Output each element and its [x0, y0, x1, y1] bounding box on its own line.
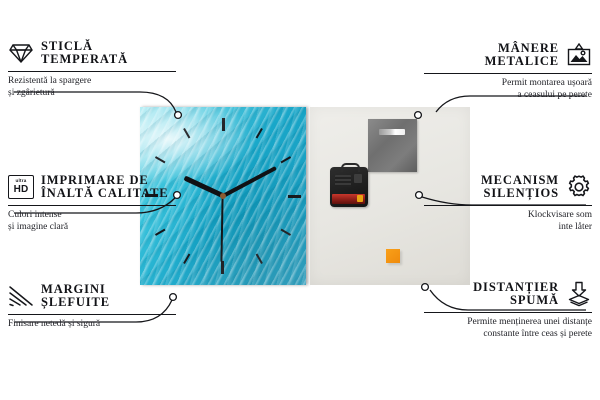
ultra-hd-icon: ultra HD: [8, 174, 34, 200]
feature-divider: [424, 73, 592, 74]
battery: [332, 194, 365, 204]
foam-spacer-pad: [386, 249, 400, 263]
feature-header: MARGINI ȘLEFUITE: [8, 281, 176, 311]
feature-header: STICLĂ TEMPERATĂ: [8, 38, 176, 68]
metal-hanger: [368, 119, 417, 172]
feature-header: MECANISM SILENȚIOS: [424, 172, 592, 202]
feature-subtitle: Finisare netedă și sigură: [8, 319, 176, 331]
feature-subtitle: Permite menținerea unei distanțe constan…: [424, 317, 592, 340]
feature-divider: [424, 205, 592, 206]
feature-title: MECANISM SILENȚIOS: [481, 174, 559, 201]
feature-divider: [8, 314, 176, 315]
feature-divider: [424, 312, 592, 313]
feature-header: MÂNERE METALICE: [424, 40, 592, 70]
feature-header: DISTANȚIER SPUMĂ: [424, 279, 592, 309]
feature-polished-edges: MARGINI ȘLEFUITE Finisare netedă și sigu…: [8, 281, 176, 331]
feature-divider: [8, 205, 176, 206]
mechanism-detail: [335, 175, 351, 187]
feature-metal-handles: MÂNERE METALICE Permit montarea ușoară a…: [424, 40, 592, 101]
feature-title: DISTANȚIER SPUMĂ: [473, 281, 559, 308]
diagonal-lines-icon: [8, 283, 34, 309]
feature-divider: [8, 71, 176, 72]
clock-center-hub: [220, 193, 226, 199]
picture-frame-hanging-icon: [566, 42, 592, 68]
feature-tempered-glass: STICLĂ TEMPERATĂ Rezistentă la spargere …: [8, 38, 176, 99]
product-photo: [140, 107, 470, 285]
gear-icon: [566, 174, 592, 200]
diamond-icon: [8, 40, 34, 66]
clock-tick: [222, 118, 224, 196]
feature-subtitle: Culori intense și imagine clară: [8, 210, 176, 233]
feature-subtitle: Permit montarea ușoară a ceasului pe per…: [424, 78, 592, 101]
clock-tick: [223, 195, 301, 197]
arrow-down-layers-icon: [566, 281, 592, 307]
feature-title: MÂNERE METALICE: [485, 42, 559, 69]
feature-subtitle: Klockvisare som inte låter: [424, 210, 592, 233]
feature-title: STICLĂ TEMPERATĂ: [41, 40, 128, 67]
feature-title: IMPRIMARE DE ÎNALTĂ CALITATE: [41, 174, 169, 201]
feature-high-quality-print: ultra HD IMPRIMARE DE ÎNALTĂ CALITATE Cu…: [8, 172, 176, 233]
feature-title: MARGINI ȘLEFUITE: [41, 283, 110, 310]
mechanism-hook: [341, 163, 360, 172]
infographic-canvas: STICLĂ TEMPERATĂ Rezistentă la spargere …: [0, 0, 600, 400]
feature-foam-spacer: DISTANȚIER SPUMĂ Permite menținerea unei…: [424, 279, 592, 340]
feature-header: ultra HD IMPRIMARE DE ÎNALTĂ CALITATE: [8, 172, 176, 202]
clock-mechanism: [330, 167, 368, 207]
mechanism-detail: [354, 174, 362, 183]
feature-subtitle: Rezistentă la spargere și zgârietură: [8, 76, 176, 99]
feature-silent-mechanism: MECANISM SILENȚIOS Klockvisare som inte …: [424, 172, 592, 233]
